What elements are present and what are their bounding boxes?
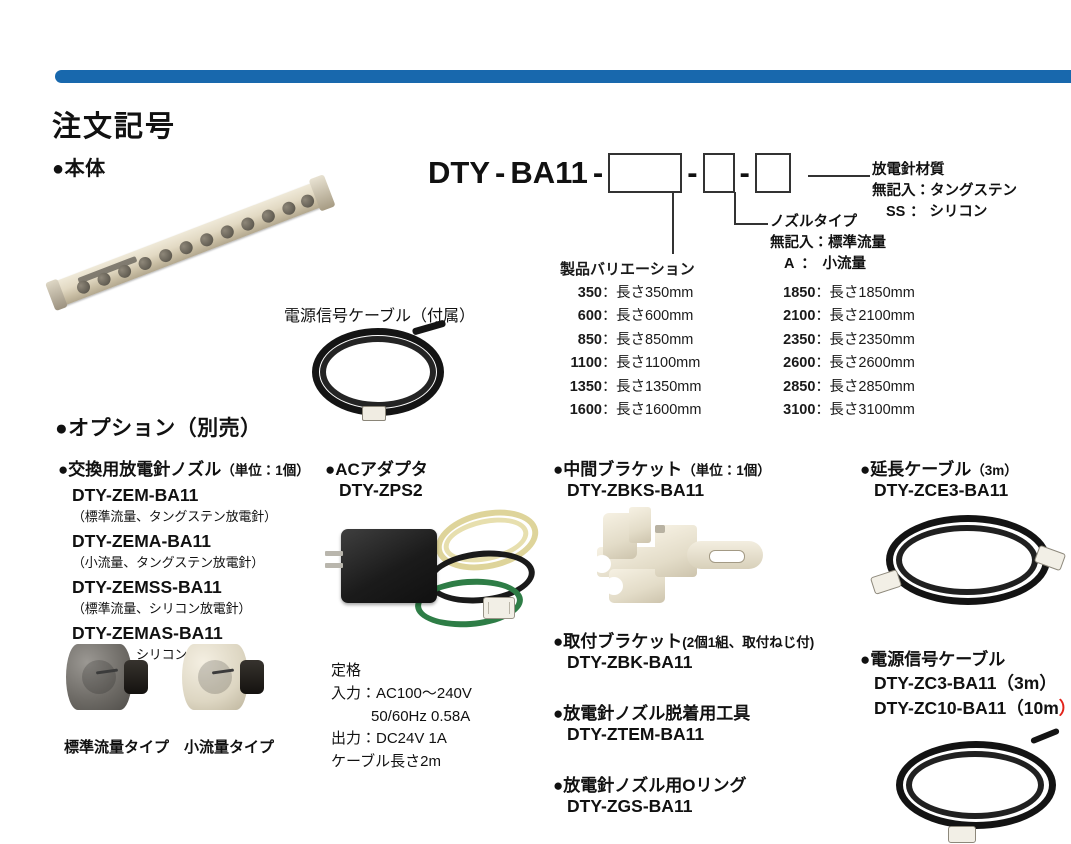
variation-key: 600 (560, 305, 602, 328)
variation-key: 3100 (773, 399, 815, 422)
variation-value: 長さ2350mm (829, 332, 914, 348)
nozzle-photo-standard (66, 640, 158, 714)
tool-model: DTY-ZTEM-BA11 (567, 724, 853, 745)
annotation-needle-material: 放電針材質 無記入：タングステン SS：シリコン (872, 160, 1017, 223)
variation-value: 長さ3100mm (829, 402, 914, 418)
model-code-diagram: DTY - BA11 - - - (428, 150, 791, 196)
bar-end-cap-right (309, 174, 336, 211)
needle-material-key-1: SS (886, 204, 905, 220)
included-cable-photo (308, 320, 442, 416)
variation-value: 長さ2850mm (829, 379, 914, 395)
mid-bracket-model: DTY-ZBKS-BA11 (567, 480, 833, 501)
variation-key: 2100 (773, 305, 815, 328)
variation-key: 1850 (773, 282, 815, 305)
adapter-spec-line-3: ケーブル長さ2m (331, 751, 472, 774)
body-section-heading: ●本体 (52, 152, 106, 181)
power-cable-model-3m: DTY-ZC3-BA11（3m） (874, 670, 1071, 695)
code-dash-4: - (740, 155, 750, 191)
mid-bracket-qty: （単位：1個） (682, 463, 771, 478)
nozzle-group-qty: （単位：1個） (221, 463, 310, 478)
adapter-spec-block: 定格 入力：AC100〜240V 50/60Hz 0.58A 出力：DC24V … (331, 660, 472, 774)
code-box-nozzle[interactable] (703, 153, 735, 193)
nozzle-type-label: ノズルタイプ (770, 212, 886, 233)
option-group-nozzles: ●交換用放電針ノズル（単位：1個） DTY-ZEM-BA11 （標準流量、タング… (58, 455, 308, 663)
nozzle-desc-2: （標準流量、シリコン放電針） (72, 598, 308, 617)
variation-value: 長さ2600mm (829, 355, 914, 371)
needle-material-value-0: タングステン (930, 183, 1017, 199)
catalog-page: 注文記号 ●本体 電源信号ケーブル（付属） DTY - BA11 - - (0, 0, 1071, 844)
nozzle-photo-low-flow (182, 640, 274, 714)
mid-bracket-title-text: ●中間ブラケット (553, 460, 682, 479)
variation-row: 2350：長さ2350mm (773, 329, 914, 352)
option-group-cables: ●延長ケーブル（3m） DTY-ZCE3-BA11 ●電源信号ケーブル DTY-… (860, 455, 1070, 501)
oring-title: ●放電針ノズル用Oリング (553, 771, 853, 796)
mount-bracket-model: DTY-ZBK-BA11 (567, 652, 853, 673)
adapter-spec-line-1: 50/60Hz 0.58A (331, 706, 472, 729)
nozzle-photos: 標準流量タイプ 小流量タイプ (64, 640, 304, 760)
variation-value: 長さ600mm (616, 308, 693, 324)
variation-label: 製品バリエーション (560, 258, 915, 279)
variation-row: 1100：長さ1100mm (560, 352, 701, 375)
nozzle-caption-low-flow: 小流量タイプ (184, 736, 274, 757)
cable-connector-left-icon (870, 569, 902, 595)
adapter-spec-line-0: 入力：AC100〜240V (331, 683, 472, 706)
variation-sep: ： (602, 282, 616, 305)
code-dash-2: - (593, 155, 603, 191)
leader-variation (672, 192, 674, 254)
variation-row: 3100：長さ3100mm (773, 399, 914, 422)
variation-value: 長さ1850mm (829, 285, 914, 301)
extension-cable-model: DTY-ZCE3-BA11 (874, 480, 1070, 501)
power-cable-model-10m: DTY-ZC10-BA11（10m） (874, 695, 1071, 720)
bar-end-cap-left (45, 278, 68, 311)
nozzle-type-key-0: 無記入 (770, 235, 814, 251)
variation-sep: ： (602, 305, 616, 328)
mid-bracket-title: ●中間ブラケット（単位：1個） (553, 455, 833, 480)
power-cable-model-1-text: DTY-ZC3-BA11 (874, 673, 997, 693)
adapter-title: ●ACアダプタ (325, 455, 540, 480)
adapter-connector-icon (483, 597, 515, 619)
nozzle-model-0: DTY-ZEM-BA11 (72, 485, 308, 506)
oring-model: DTY-ZGS-BA11 (567, 796, 853, 817)
extension-cable-photo (874, 505, 1060, 617)
needle-material-label: 放電針材質 (872, 160, 1017, 181)
variation-row: 1850：長さ1850mm (773, 282, 914, 305)
variation-key: 350 (560, 282, 602, 305)
leader-material (808, 175, 870, 177)
nozzle-desc-1: （小流量、タングステン放電針） (72, 552, 308, 571)
variation-row: 350：長さ350mm (560, 282, 701, 305)
variation-sep: ： (602, 352, 616, 375)
variation-value: 長さ350mm (616, 285, 693, 301)
code-series: BA11 (510, 155, 588, 191)
power-cable-model-2-text: DTY-ZC10-BA11 (874, 698, 1006, 718)
option-group-brackets: ●中間ブラケット（単位：1個） DTY-ZBKS-BA11 ●取付ブラケット(2… (553, 455, 833, 501)
extension-cable-title-text: ●延長ケーブル (860, 460, 971, 479)
variation-value: 長さ2100mm (829, 308, 914, 324)
mount-bracket-title: ●取付ブラケット(2個1組、取付ねじ付) (553, 627, 853, 652)
ionizer-bar-graphic (51, 180, 327, 307)
variation-sep: ： (602, 329, 616, 352)
power-cable-length-1: （3m） (997, 673, 1057, 693)
variation-row: 1350：長さ1350mm (560, 376, 701, 399)
nozzle-type-sep-0: ： (814, 235, 829, 251)
tool-title: ●放電針ノズル脱着用工具 (553, 699, 853, 724)
nozzle-caption-standard: 標準流量タイプ (64, 736, 169, 757)
code-prefix: DTY (428, 155, 490, 191)
code-box-variation[interactable] (608, 153, 682, 193)
ionizer-bar-photo (50, 178, 350, 358)
code-dash-3: - (687, 155, 697, 191)
nozzle-desc-0: （標準流量、タングステン放電針） (72, 506, 308, 525)
mid-bracket-photo (595, 503, 755, 613)
power-cable-length-2: （10m (1006, 698, 1059, 718)
variation-key: 1100 (560, 352, 602, 375)
nozzle-model-1: DTY-ZEMA-BA11 (72, 531, 308, 552)
extension-cable-title: ●延長ケーブル（3m） (860, 455, 1070, 480)
variation-value: 長さ850mm (616, 332, 693, 348)
extension-cable-length: （3m） (971, 463, 1018, 478)
needle-material-key-0: 無記入 (872, 183, 916, 199)
variation-sep: ： (815, 352, 829, 375)
nozzle-group-title-text: ●交換用放電針ノズル (58, 460, 221, 479)
variation-value: 長さ1350mm (616, 379, 701, 395)
variation-sep: ： (815, 305, 829, 328)
variation-value: 長さ1100mm (616, 355, 700, 371)
page-title: 注文記号 (52, 103, 176, 145)
accent-bar (55, 70, 1071, 83)
power-cable-photo (886, 733, 1062, 839)
variation-sep: ： (815, 376, 829, 399)
options-section-heading: ●オプション（別売） (55, 412, 262, 442)
variation-column-right: 1850：長さ1850mm 2100：長さ2100mm 2350：長さ2350m… (773, 282, 914, 423)
mount-bracket-title-text: ●取付ブラケット (553, 632, 682, 651)
variation-value: 長さ1600mm (616, 402, 701, 418)
variation-key: 1350 (560, 376, 602, 399)
variation-row: 2600：長さ2600mm (773, 352, 914, 375)
adapter-model: DTY-ZPS2 (339, 480, 540, 501)
needle-material-sep-0: ： (916, 183, 931, 199)
variation-sep: ： (815, 282, 829, 305)
adapter-spec-line-2: 出力：DC24V 1A (331, 728, 472, 751)
power-cable-title: ●電源信号ケーブル (860, 645, 1071, 670)
leader-nozzle-h (734, 223, 768, 225)
variation-key: 2850 (773, 376, 815, 399)
variation-key: 2600 (773, 352, 815, 375)
code-dash-1: - (495, 155, 505, 191)
variation-row: 600：長さ600mm (560, 305, 701, 328)
variation-key: 2350 (773, 329, 815, 352)
option-group-ac-adapter: ●ACアダプタ DTY-ZPS2 定格 入力：AC100〜240V 50/60H… (325, 455, 540, 501)
needle-material-value-1: シリコン (929, 204, 987, 220)
nozzle-type-value-0: 標準流量 (828, 235, 886, 251)
variation-sep: ： (602, 399, 616, 422)
variation-row: 850：長さ850mm (560, 329, 701, 352)
nozzle-model-2: DTY-ZEMSS-BA11 (72, 577, 308, 598)
cable-connector-icon (362, 406, 386, 421)
variation-key: 1600 (560, 399, 602, 422)
variation-table: 製品バリエーション 350：長さ350mm 600：長さ600mm 850：長さ… (560, 258, 915, 423)
code-box-material[interactable] (755, 153, 791, 193)
variation-column-left: 350：長さ350mm 600：長さ600mm 850：長さ850mm 1100… (560, 282, 701, 423)
variation-row: 1600：長さ1600mm (560, 399, 701, 422)
variation-sep: ： (815, 329, 829, 352)
variation-row: 2100：長さ2100mm (773, 305, 914, 328)
adapter-body-graphic (341, 529, 437, 603)
ac-adapter-photo (331, 505, 531, 655)
mount-bracket-qty: (2個1組、取付ねじ付) (682, 635, 814, 650)
variation-sep: ： (602, 376, 616, 399)
power-cable-connector-icon (948, 826, 976, 843)
adapter-spec-title: 定格 (331, 660, 472, 683)
power-cable-length-2-close: ） (1059, 698, 1071, 718)
variation-row: 2850：長さ2850mm (773, 376, 914, 399)
needle-material-sep-1: ： (905, 202, 929, 223)
leader-nozzle-v (734, 192, 736, 224)
variation-key: 850 (560, 329, 602, 352)
nozzle-group-title: ●交換用放電針ノズル（単位：1個） (58, 455, 308, 480)
variation-sep: ： (815, 399, 829, 422)
